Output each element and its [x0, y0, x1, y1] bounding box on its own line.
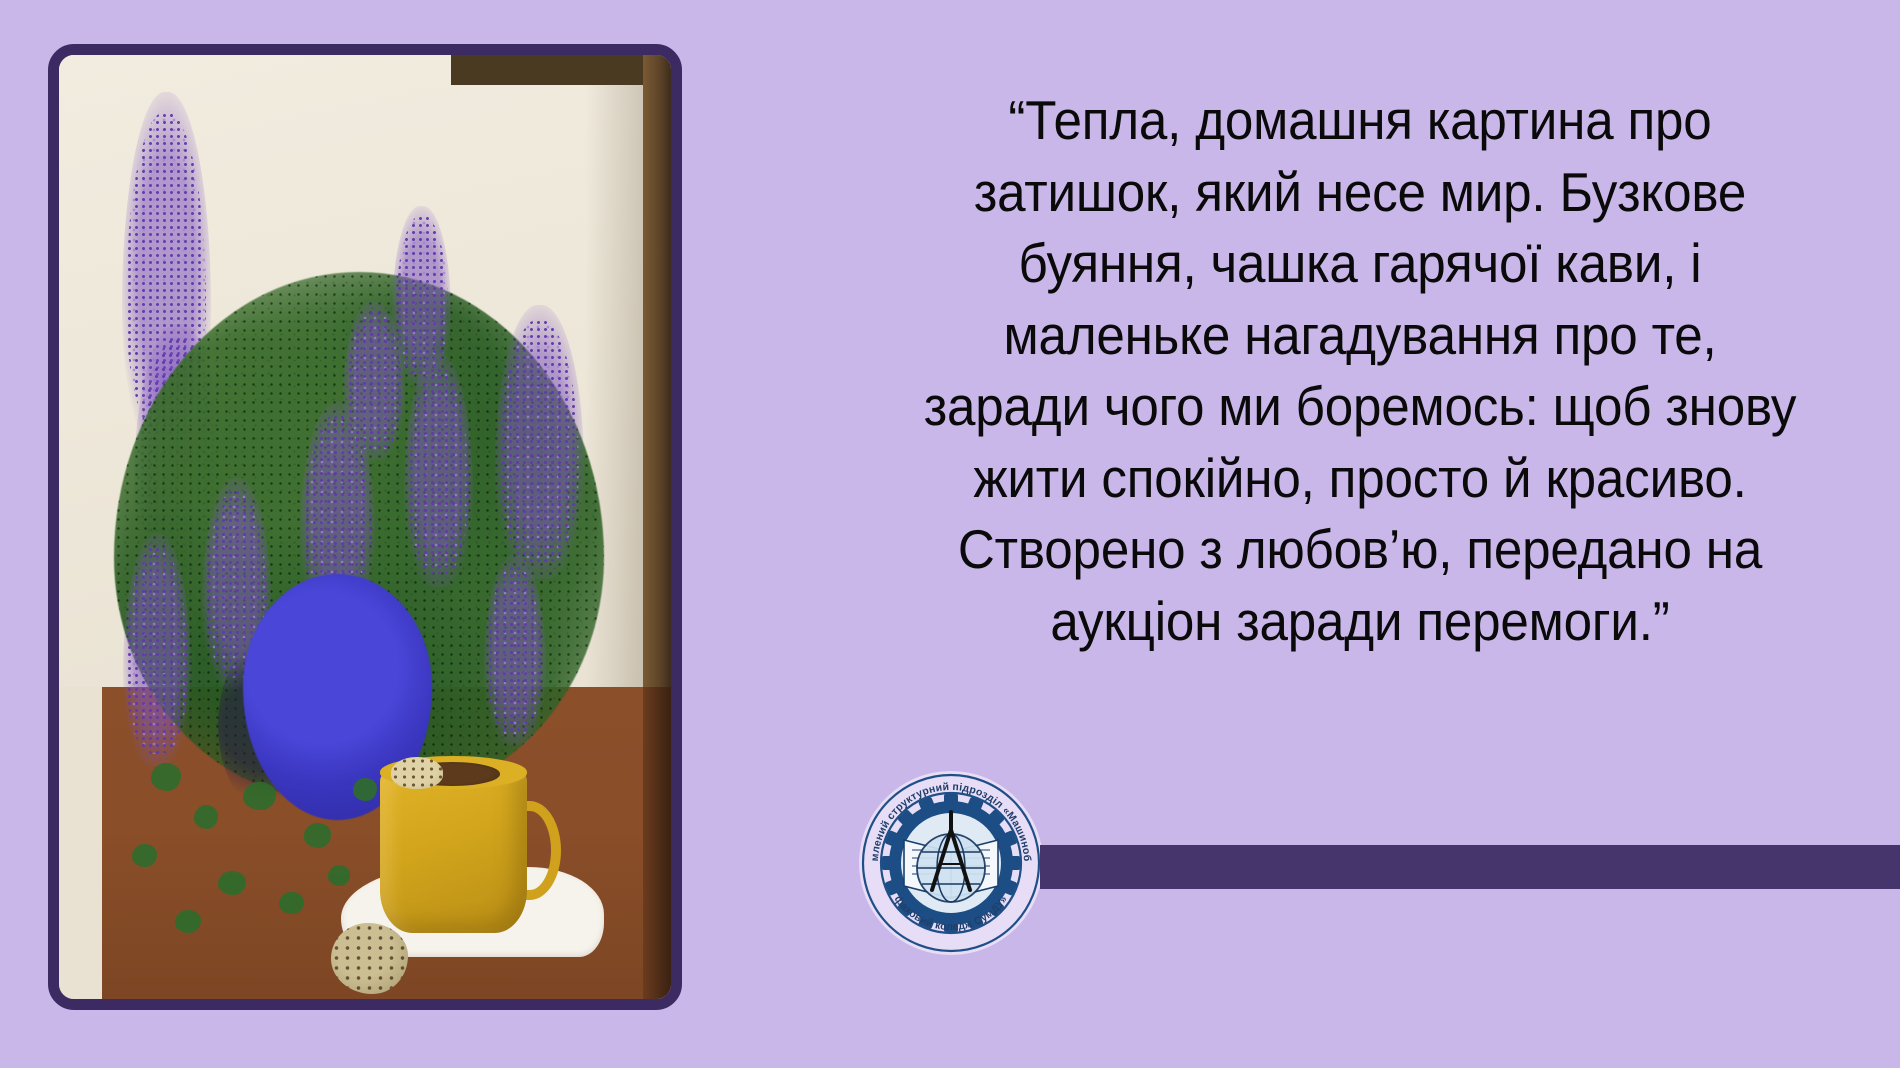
lilac-spike-10 — [347, 310, 402, 452]
artwork-leaf — [175, 910, 201, 933]
artwork-mug — [380, 768, 527, 933]
lilac-spike-3 — [396, 215, 448, 375]
artwork-leaf — [194, 805, 218, 830]
artwork-leaf — [218, 871, 246, 896]
artwork-leaf — [243, 782, 277, 810]
lilac-spike-8 — [126, 546, 187, 754]
lilac-spike-6 — [408, 367, 469, 575]
artwork-cookie-on-mug — [391, 757, 443, 788]
artwork-image — [59, 55, 671, 999]
college-seal-logo: Відокремлений структурний підрозділ «Маш… — [856, 768, 1046, 958]
lilac-spike-9 — [487, 565, 542, 735]
artwork-leaf — [132, 844, 156, 867]
slide-canvas: “Тепла, домашня картина про затишок, яки… — [0, 0, 1900, 1068]
artwork-right-edge — [643, 55, 671, 754]
artwork-leaf — [328, 865, 350, 886]
artwork-leaf — [353, 778, 377, 801]
quote-text: “Тепла, домашня картина про затишок, яки… — [914, 85, 1807, 657]
artwork-top-shadow — [451, 55, 671, 85]
artwork-cookie-on-napkin — [331, 923, 408, 994]
artwork-frame — [48, 44, 682, 1010]
artwork-table-right-edge — [643, 687, 671, 999]
artwork-leaf — [279, 892, 303, 914]
accent-bar — [1040, 845, 1900, 889]
artwork-table-left-gap — [59, 687, 102, 999]
artwork-leaf — [304, 823, 332, 848]
lilac-spike-4 — [500, 319, 580, 564]
